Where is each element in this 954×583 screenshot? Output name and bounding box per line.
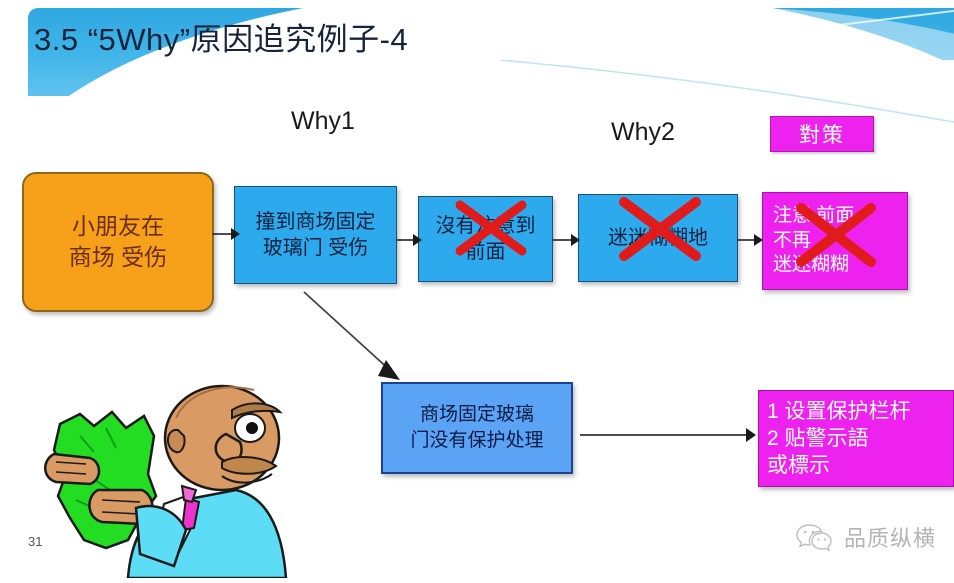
countermeasure-rejected-line-2: 不再 [773, 229, 811, 254]
why3-cause-line-1: 迷迷糊糊地 [608, 225, 708, 251]
why3-cause-rejected-box: 迷迷糊糊地 [578, 194, 738, 282]
cartoon-man-with-money-illustration [36, 378, 298, 578]
problem-box: 小朋友在 商场 受伤 [22, 172, 214, 312]
why1-cause-line-1: 撞到商场固定 [256, 209, 376, 235]
wechat-icon [795, 523, 835, 551]
slide-title: 3.5 “5Why”原因追究例子-4 [34, 14, 408, 59]
countermeasure-accepted-line-1: 1 设置保护栏杆 [767, 398, 911, 425]
why2-cause-line-1: 沒有注意到 [436, 213, 536, 239]
why2-cause-line-2: 前面 [466, 239, 506, 265]
countermeasure-accepted-line-2: 2 贴警示語 [767, 425, 869, 452]
why1-label: Why1 [291, 107, 355, 136]
arrow-why3-to-countermeasure [737, 228, 763, 252]
why1-cause-line-2: 玻璃门 受伤 [263, 235, 369, 261]
countermeasure-rejected-line-3: 迷迷糊糊 [773, 253, 849, 278]
countermeasure-rejected-box: 注意 前面 不再 迷迷糊糊 [762, 192, 908, 290]
root-cause-line-1: 商场固定玻璃 [420, 402, 534, 428]
countermeasure-accepted-box: 1 设置保护栏杆 2 贴警示語 或標示 [758, 390, 954, 487]
arrow-root-cause-to-countermeasure [580, 424, 756, 446]
countermeasure-tag: 對策 [770, 116, 874, 152]
countermeasure-rejected-line-1: 注意 前面 [773, 204, 854, 229]
why2-cause-rejected-box: 沒有注意到 前面 [418, 196, 553, 282]
page-number: 31 [28, 534, 42, 549]
slide-canvas: 3.5 “5Why”原因追究例子-4 Why1 Why2 對策 小朋友在 商场 … [0, 0, 954, 583]
arrow-why2-to-why3 [552, 228, 580, 252]
problem-box-line-2: 商场 受伤 [69, 242, 167, 273]
why1-cause-box: 撞到商场固定 玻璃门 受伤 [234, 186, 397, 284]
arrow-why1-to-why2 [396, 228, 422, 252]
problem-box-line-1: 小朋友在 [72, 211, 164, 242]
watermark: 品质纵横 [795, 521, 936, 553]
watermark-text: 品质纵横 [844, 521, 936, 553]
arrow-why1-to-root-cause [300, 288, 410, 388]
arrow-problem-to-why1 [212, 222, 240, 246]
countermeasure-accepted-line-3: 或標示 [767, 452, 830, 479]
root-cause-line-2: 门没有保护处理 [410, 428, 543, 454]
root-cause-box: 商场固定玻璃 门没有保护处理 [381, 382, 573, 474]
why2-label: Why2 [611, 118, 675, 147]
